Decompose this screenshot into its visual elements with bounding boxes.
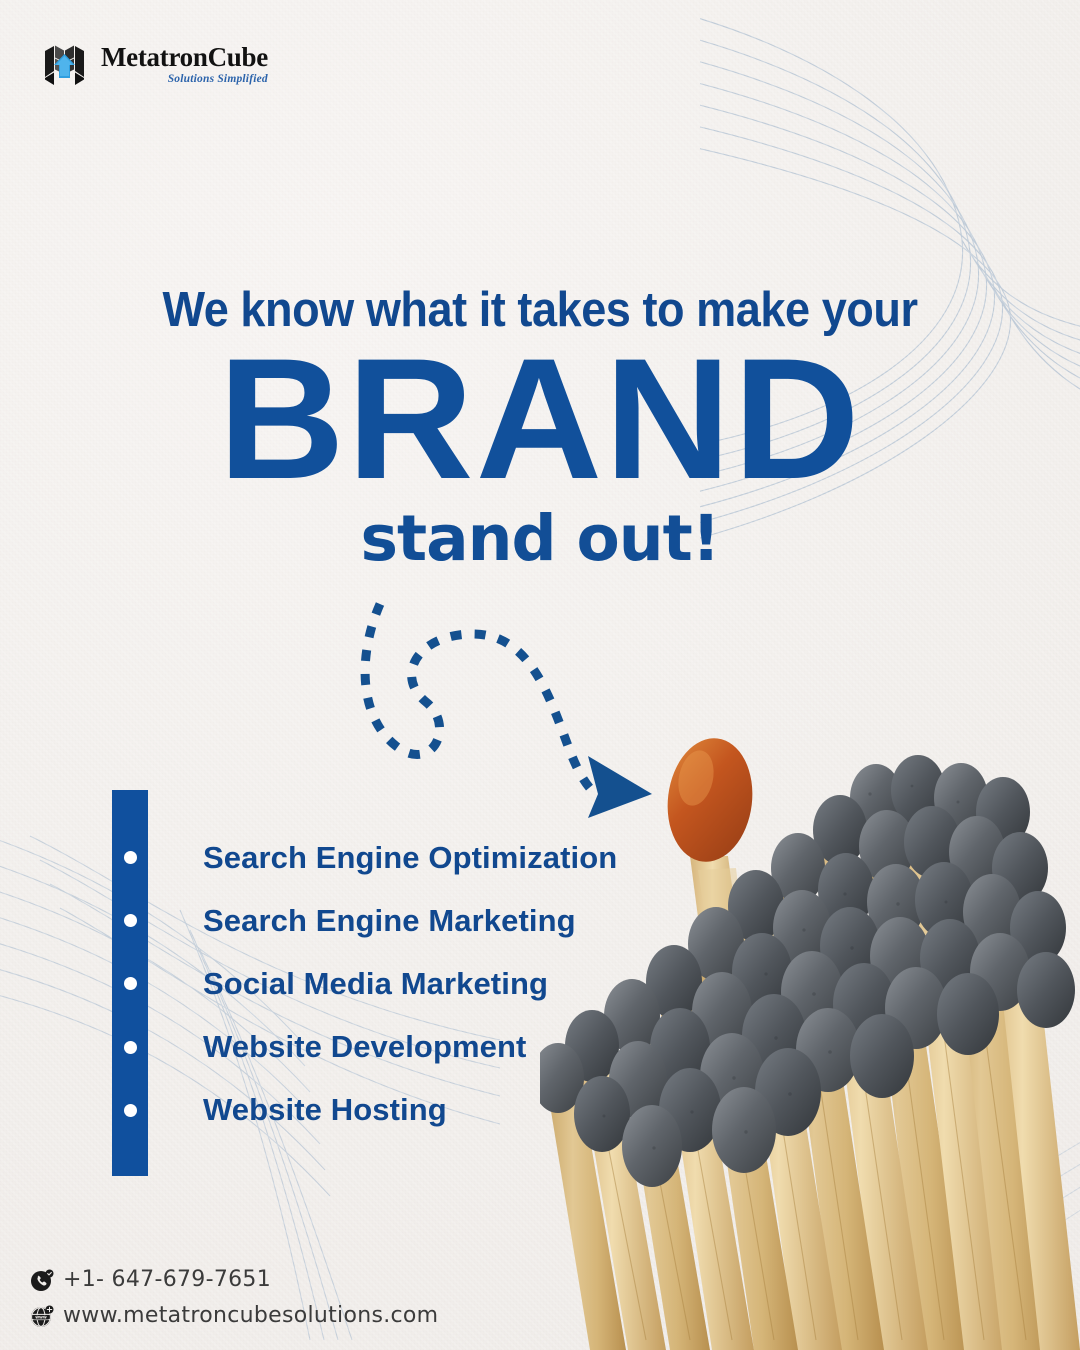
bullet-dot <box>124 851 137 864</box>
phone-icon <box>30 1268 54 1292</box>
logo-name: MetatronCube <box>101 44 268 71</box>
brand-logo[interactable]: MetatronCube Solutions Simplified <box>40 38 268 90</box>
poster-canvas: MetatronCube Solutions Simplified We kno… <box>0 0 1080 1350</box>
svg-text:www: www <box>35 1314 47 1319</box>
headline-emphasis-brand: BRAND <box>0 340 1080 498</box>
bullet-dot <box>124 914 137 927</box>
bullet-dot <box>124 977 137 990</box>
bullet-dot <box>124 1104 137 1117</box>
footer-website-text: www.metatroncubesolutions.com <box>63 1303 438 1328</box>
footer-phone-row[interactable]: +1- 647-679-7651 <box>30 1267 438 1292</box>
bullet-dot <box>124 1041 137 1054</box>
footer-phone-text: +1- 647-679-7651 <box>63 1267 271 1292</box>
matchsticks-artwork <box>540 690 1080 1350</box>
footer-website-row[interactable]: www www.metatroncubesolutions.com <box>30 1303 438 1328</box>
services-accent-bar <box>112 790 148 1176</box>
globe-www-icon: www <box>30 1304 54 1328</box>
headline-block: We know what it takes to make your BRAND… <box>0 282 1080 575</box>
cube-logo-icon <box>40 38 92 90</box>
logo-tagline: Solutions Simplified <box>101 74 268 86</box>
footer-contact: +1- 647-679-7651 www www.metatroncubesol… <box>30 1256 438 1328</box>
